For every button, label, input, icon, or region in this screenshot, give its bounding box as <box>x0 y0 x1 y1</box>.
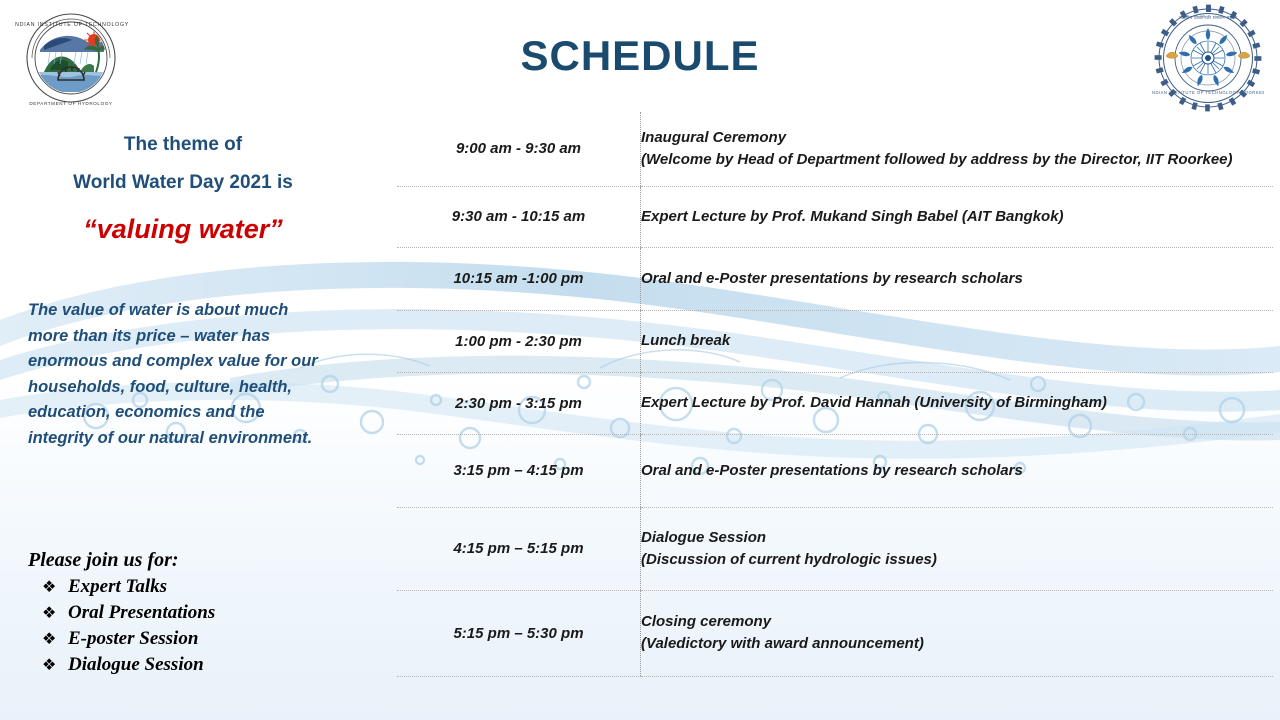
list-item-label: E-poster Session <box>68 626 198 652</box>
schedule-table: 9:00 am - 9:30 am Inaugural Ceremony (We… <box>397 112 1273 677</box>
list-item-label: Oral Presentations <box>68 600 215 626</box>
table-row: 9:30 am - 10:15 am Expert Lecture by Pro… <box>397 186 1273 247</box>
schedule-detail: (Valedictory with award announcement) <box>641 633 1273 655</box>
page-title: SCHEDULE <box>380 32 900 80</box>
schedule-description: Oral and e-Poster presentations by resea… <box>641 434 1274 507</box>
table-row: 1:00 pm - 2:30 pm Lunch break <box>397 310 1273 372</box>
schedule-time: 2:30 pm - 3:15 pm <box>397 372 641 434</box>
schedule-title: Oral and e-Poster presentations by resea… <box>641 460 1273 482</box>
schedule-time: 10:15 am -1:00 pm <box>397 247 641 310</box>
list-item: ❖ E-poster Session <box>42 626 348 652</box>
table-row: 3:15 pm – 4:15 pm Oral and e-Poster pres… <box>397 434 1273 507</box>
diamond-bullet-icon: ❖ <box>42 652 68 678</box>
water-value-quote: The value of water is about much more th… <box>28 298 328 451</box>
theme-line-1: The theme of <box>18 126 348 164</box>
list-item: ❖ Oral Presentations <box>42 600 348 626</box>
diamond-bullet-icon: ❖ <box>42 574 68 600</box>
join-us-block: Please join us for: ❖ Expert Talks ❖ Ora… <box>28 547 348 678</box>
schedule-description: Closing ceremony (Valedictory with award… <box>641 590 1274 676</box>
svg-text:INDIAN INSTITUTE OF TECHNOLOGY: INDIAN INSTITUTE OF TECHNOLOGY ROORKEE <box>1152 90 1264 95</box>
schedule-time: 5:15 pm – 5:30 pm <box>397 590 641 676</box>
join-us-list: ❖ Expert Talks ❖ Oral Presentations ❖ E-… <box>28 574 348 678</box>
theme-line-2: World Water Day 2021 is <box>18 164 348 202</box>
poster-canvas: INDIAN INSTITUTE OF TECHNOLOGY DEPARTMEN… <box>0 0 1280 720</box>
list-item: ❖ Expert Talks <box>42 574 348 600</box>
schedule-detail: (Discussion of current hydrologic issues… <box>641 549 1273 571</box>
join-us-heading: Please join us for: <box>28 547 348 574</box>
schedule-description: Inaugural Ceremony (Welcome by Head of D… <box>641 112 1274 186</box>
schedule-description: Lunch break <box>641 310 1274 372</box>
table-row: 5:15 pm – 5:30 pm Closing ceremony (Vale… <box>397 590 1273 676</box>
diamond-bullet-icon: ❖ <box>42 600 68 626</box>
schedule-description: Expert Lecture by Prof. David Hannah (Un… <box>641 372 1274 434</box>
schedule-title: Lunch break <box>641 330 1273 352</box>
schedule-time: 9:00 am - 9:30 am <box>397 112 641 186</box>
schedule-title: Closing ceremony <box>641 611 1273 633</box>
schedule-title: Expert Lecture by Prof. Mukand Singh Bab… <box>641 206 1273 228</box>
schedule-title: Inaugural Ceremony <box>641 127 1273 149</box>
svg-text:DEPARTMENT OF HYDROLOGY: DEPARTMENT OF HYDROLOGY <box>29 101 112 106</box>
schedule-time: 1:00 pm - 2:30 pm <box>397 310 641 372</box>
iit-roorkee-department-of-hydrology-emblem: INDIAN INSTITUTE OF TECHNOLOGY DEPARTMEN… <box>14 6 128 114</box>
schedule-description: Oral and e-Poster presentations by resea… <box>641 247 1274 310</box>
table-row: 2:30 pm - 3:15 pm Expert Lecture by Prof… <box>397 372 1273 434</box>
table-row: 10:15 am -1:00 pm Oral and e-Poster pres… <box>397 247 1273 310</box>
schedule-time: 3:15 pm – 4:15 pm <box>397 434 641 507</box>
svg-text:INDIAN INSTITUTE OF TECHNOLOGY: INDIAN INSTITUTE OF TECHNOLOGY <box>14 22 128 28</box>
schedule-title: Expert Lecture by Prof. David Hannah (Un… <box>641 392 1273 414</box>
svg-text:भारतीय प्रौद्योगिकी संस्थान रु: भारतीय प्रौद्योगिकी संस्थान रुड़की <box>1179 15 1237 21</box>
table-row: 9:00 am - 9:30 am Inaugural Ceremony (We… <box>397 112 1273 186</box>
iit-roorkee-institute-emblem: INDIAN INSTITUTE OF TECHNOLOGY ROORKEE भ… <box>1152 2 1264 114</box>
list-item: ❖ Dialogue Session <box>42 652 348 678</box>
schedule-time: 4:15 pm – 5:15 pm <box>397 507 641 590</box>
schedule-title: Dialogue Session <box>641 527 1273 549</box>
schedule-detail: (Welcome by Head of Department followed … <box>641 149 1273 171</box>
schedule-description: Expert Lecture by Prof. Mukand Singh Bab… <box>641 186 1274 247</box>
schedule-title: Oral and e-Poster presentations by resea… <box>641 268 1273 290</box>
theme-quote: “valuing water” <box>18 206 348 252</box>
list-item-label: Expert Talks <box>68 574 167 600</box>
list-item-label: Dialogue Session <box>68 652 204 678</box>
schedule-description: Dialogue Session (Discussion of current … <box>641 507 1274 590</box>
table-row: 4:15 pm – 5:15 pm Dialogue Session (Disc… <box>397 507 1273 590</box>
schedule-time: 9:30 am - 10:15 am <box>397 186 641 247</box>
diamond-bullet-icon: ❖ <box>42 626 68 652</box>
theme-block: The theme of World Water Day 2021 is “va… <box>18 126 348 252</box>
